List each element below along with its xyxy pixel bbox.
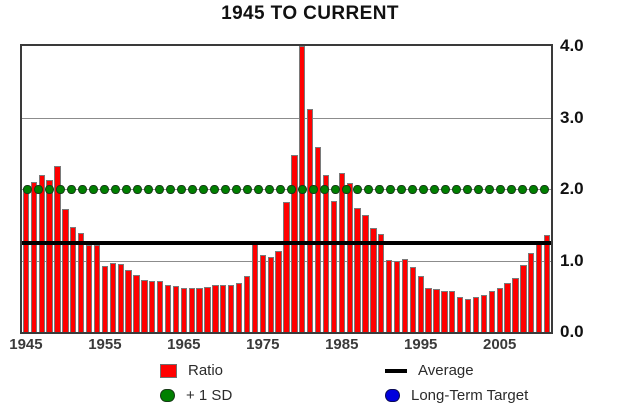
sd-marker-dot	[540, 185, 549, 194]
sd-marker-dot	[155, 185, 164, 194]
bar	[283, 202, 289, 332]
sd-marker-dot	[342, 185, 351, 194]
y-axis-tick-label: 1.0	[560, 251, 584, 271]
bar	[307, 109, 313, 332]
sd-marker-dot	[23, 185, 32, 194]
bar	[189, 288, 195, 332]
legend-item-average: Average	[385, 362, 474, 379]
sd-marker-dot	[408, 185, 417, 194]
bar	[39, 175, 45, 332]
bar	[323, 175, 329, 332]
sd-marker-dot	[100, 185, 109, 194]
bar	[315, 147, 321, 332]
bar	[489, 291, 495, 332]
bar	[504, 283, 510, 332]
sd-marker-dot	[287, 185, 296, 194]
sd-marker-dot	[375, 185, 384, 194]
sd-marker-dot	[507, 185, 516, 194]
bar	[157, 281, 163, 332]
sd-marker-dot	[276, 185, 285, 194]
x-axis-tick-label: 1995	[404, 336, 437, 353]
sd-marker-dot	[78, 185, 87, 194]
bar	[165, 285, 171, 332]
bar	[181, 288, 187, 332]
legend-item-long-term-target: Long-Term Target	[385, 387, 528, 404]
bar	[236, 283, 242, 332]
bar	[23, 188, 29, 332]
bar	[260, 255, 266, 332]
y-axis-labels: 0.01.02.03.04.0	[556, 44, 616, 334]
page-title: 1945 TO CURRENT	[0, 3, 620, 25]
sd-marker-dot	[166, 185, 175, 194]
sd-marker-dot	[188, 185, 197, 194]
x-axis-tick-label: 1945	[9, 336, 42, 353]
x-axis-tick-label: 2005	[483, 336, 516, 353]
sd-marker-dot	[133, 185, 142, 194]
average-swatch-icon	[385, 369, 407, 373]
bar	[433, 289, 439, 332]
bar	[331, 201, 337, 332]
ratio-swatch-icon	[160, 364, 177, 378]
bar	[220, 285, 226, 332]
sd-marker-dot	[496, 185, 505, 194]
bar	[520, 265, 526, 332]
x-axis-tick-label: 1965	[167, 336, 200, 353]
bar	[441, 291, 447, 332]
sd-marker-dot	[430, 185, 439, 194]
bar	[528, 253, 534, 332]
bar	[110, 263, 116, 332]
legend-item-sd: + 1 SD	[160, 387, 232, 404]
bar	[552, 271, 553, 332]
sd-marker-dot	[144, 185, 153, 194]
sd-marker-dot	[452, 185, 461, 194]
bar	[410, 267, 416, 332]
sd-marker-dot	[441, 185, 450, 194]
sd-marker-dot	[122, 185, 131, 194]
sd-marker-dot	[111, 185, 120, 194]
sd-marker-dot	[177, 185, 186, 194]
sd-marker-dot	[89, 185, 98, 194]
bar	[339, 173, 345, 332]
bar	[149, 281, 155, 332]
bar	[46, 180, 52, 332]
bar	[196, 288, 202, 332]
bar	[394, 261, 400, 333]
sd-marker-dot	[485, 185, 494, 194]
x-axis-labels: 1945195519651975198519952005	[20, 336, 553, 360]
sd-marker-dot	[518, 185, 527, 194]
sd-marker-dot	[243, 185, 252, 194]
bar	[418, 276, 424, 332]
bar	[212, 285, 218, 332]
sd-marker-dot	[199, 185, 208, 194]
bar	[268, 257, 274, 332]
sd-marker-dot	[210, 185, 219, 194]
sd-marker-dot	[67, 185, 76, 194]
sd-marker-dot	[254, 185, 263, 194]
sd-swatch-icon	[160, 389, 175, 402]
bar	[347, 183, 353, 332]
bar	[31, 182, 37, 332]
sd-marker-dot	[364, 185, 373, 194]
legend-label-ratio: Ratio	[188, 362, 223, 379]
bar	[354, 208, 360, 332]
sd-marker-dot	[320, 185, 329, 194]
sd-marker-dot	[45, 185, 54, 194]
bar	[465, 299, 471, 332]
y-axis-tick-label: 3.0	[560, 108, 584, 128]
legend: Ratio + 1 SD Average Long-Term Target	[0, 360, 620, 414]
bar	[536, 243, 542, 332]
legend-item-ratio: Ratio	[160, 362, 223, 379]
x-axis-tick-label: 1985	[325, 336, 358, 353]
bar	[173, 286, 179, 332]
x-axis-tick-label: 1975	[246, 336, 279, 353]
bar	[102, 266, 108, 332]
bar	[457, 297, 463, 332]
bar	[362, 215, 368, 332]
sd-marker-dot	[474, 185, 483, 194]
y-axis-tick-label: 2.0	[560, 179, 584, 199]
bar	[544, 235, 550, 332]
sd-marker-dot	[463, 185, 472, 194]
bar	[62, 209, 68, 332]
bar	[473, 297, 479, 332]
y-axis-tick-label: 0.0	[560, 322, 584, 342]
y-axis-tick-label: 4.0	[560, 36, 584, 56]
sd-marker-dot	[309, 185, 318, 194]
sd-marker-dot	[397, 185, 406, 194]
bar	[228, 285, 234, 332]
long-term-target-swatch-icon	[385, 389, 400, 402]
bar	[118, 264, 124, 332]
chart-container: 1945 TO CURRENT 0.01.02.03.04.0 19451955…	[0, 0, 620, 414]
x-axis-tick-label: 1955	[88, 336, 121, 353]
bar	[94, 245, 100, 332]
average-reference-line	[22, 241, 551, 245]
sd-marker-dot	[56, 185, 65, 194]
sd-marker-dot	[34, 185, 43, 194]
bar	[497, 288, 503, 332]
bar	[425, 288, 431, 332]
sd-marker-dot	[331, 185, 340, 194]
bar	[204, 287, 210, 332]
bar	[141, 280, 147, 332]
bar	[402, 259, 408, 332]
sd-marker-dot	[529, 185, 538, 194]
bar	[378, 234, 384, 332]
legend-label-long-term-target: Long-Term Target	[411, 387, 528, 404]
bar	[125, 270, 131, 332]
sd-marker-dot	[232, 185, 241, 194]
bar	[133, 275, 139, 332]
sd-marker-dot	[298, 185, 307, 194]
sd-marker-dot	[353, 185, 362, 194]
bar	[386, 260, 392, 332]
bar	[244, 276, 250, 332]
bar	[78, 233, 84, 332]
bar	[481, 295, 487, 332]
bar	[449, 291, 455, 332]
bar	[275, 251, 281, 333]
plot-area	[20, 44, 553, 334]
sd-marker-dot	[221, 185, 230, 194]
bar	[252, 244, 258, 332]
plus-one-sd-reference-line	[22, 185, 551, 194]
sd-marker-dot	[265, 185, 274, 194]
sd-marker-dot	[386, 185, 395, 194]
bar	[86, 245, 92, 332]
bar	[512, 278, 518, 332]
legend-label-average: Average	[418, 362, 474, 379]
legend-label-sd: + 1 SD	[186, 387, 232, 404]
sd-marker-dot	[419, 185, 428, 194]
